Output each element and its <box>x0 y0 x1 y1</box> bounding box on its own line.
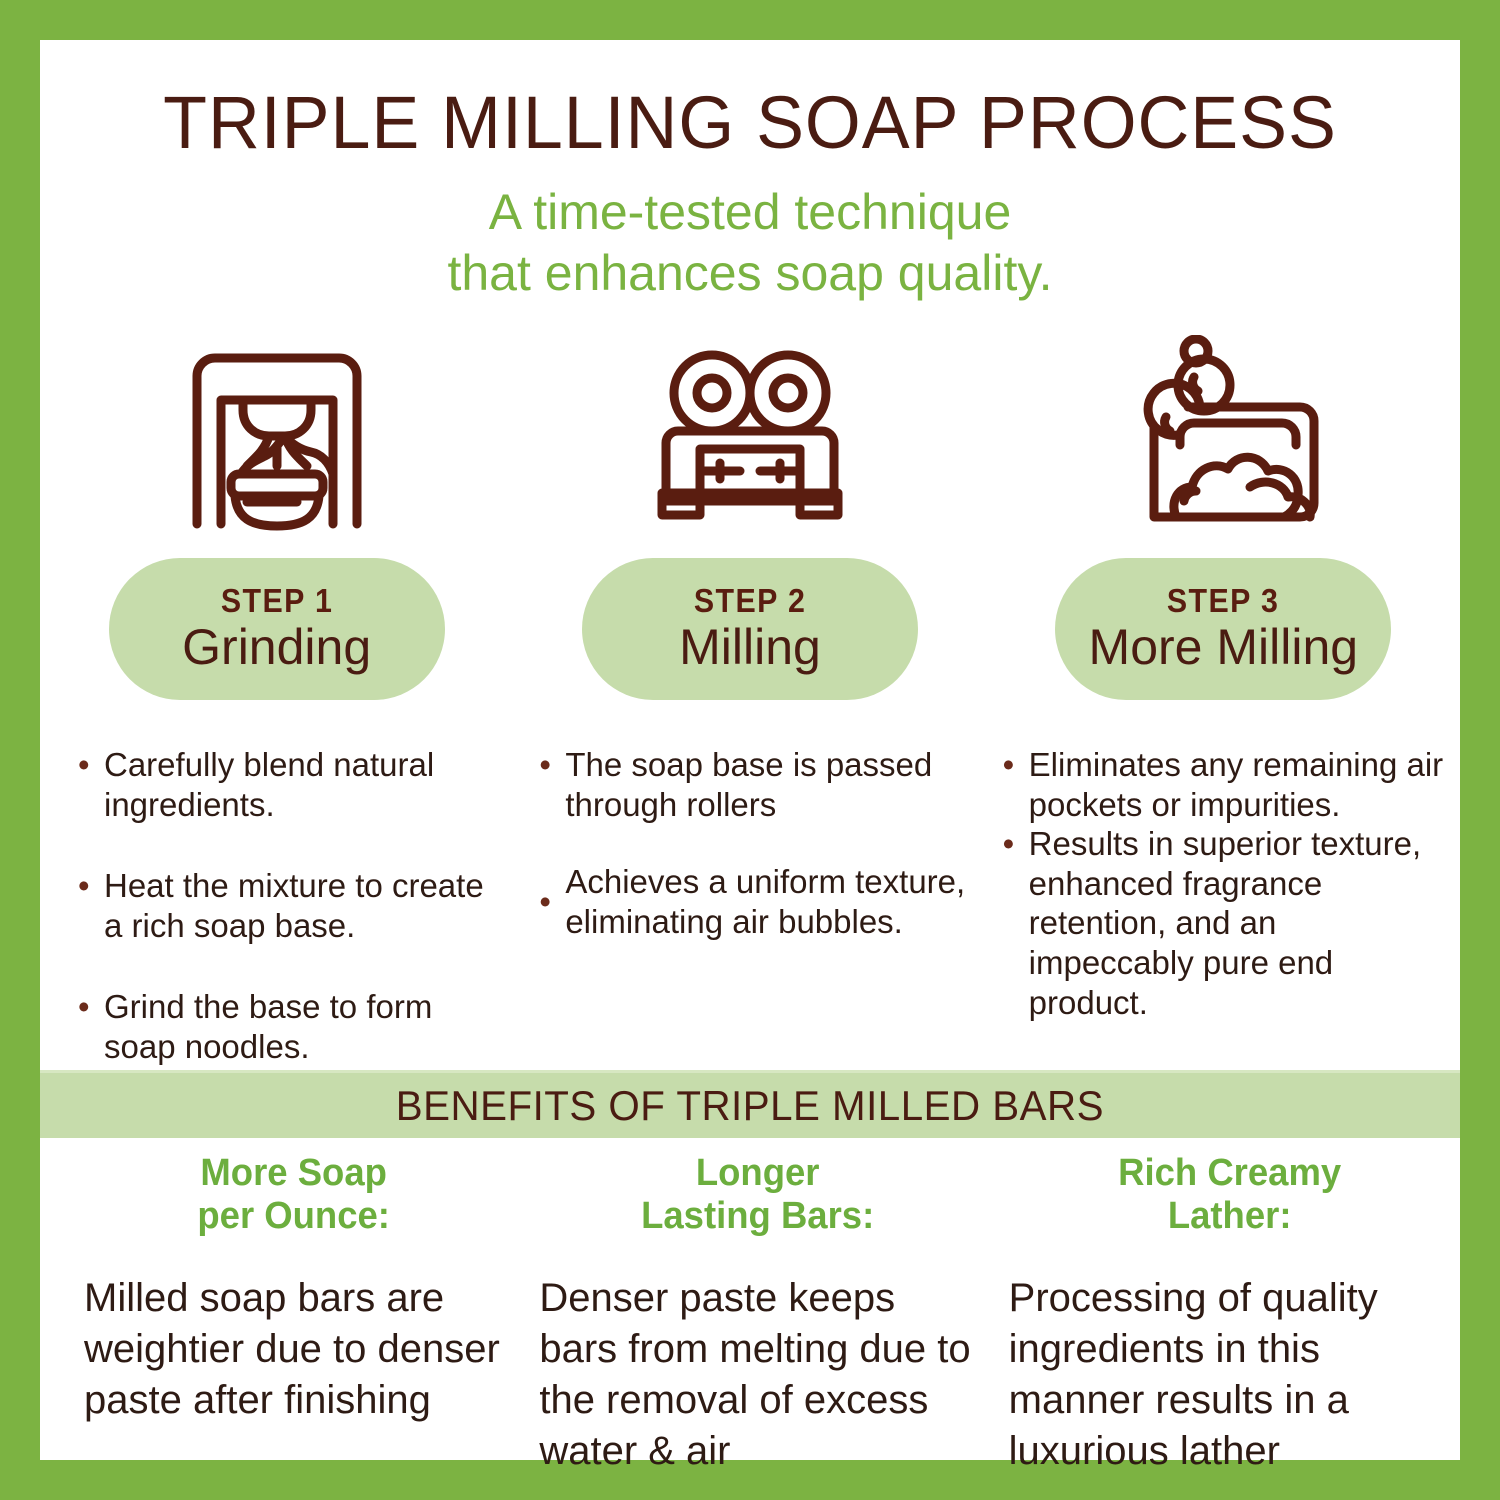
step-pill-1: STEP 1 Grinding <box>109 558 445 700</box>
step-label: STEP 1 <box>220 584 332 617</box>
list-item: • Carefully blend natural ingredients. <box>78 745 503 824</box>
bullet-text: The soap base is passed through rollers <box>565 745 976 824</box>
bullet-marker: • <box>539 745 565 824</box>
bullet-marker: • <box>78 745 104 824</box>
step-column-1: STEP 1 Grinding <box>40 330 513 700</box>
bullet-marker: • <box>539 882 565 922</box>
steps-row: STEP 1 Grinding <box>40 330 1460 700</box>
benefit-column-2: Longer Lasting Bars: Denser paste keeps … <box>513 1152 986 1477</box>
list-item: • Eliminates any remaining air pockets o… <box>1003 745 1446 824</box>
bullet-text: Achieves a uniform texture, eliminating … <box>565 862 976 941</box>
step-name: Milling <box>679 621 821 674</box>
bullet-marker: • <box>1003 824 1029 1022</box>
bullet-text: Carefully blend natural ingredients. <box>104 745 503 824</box>
list-item: • Grind the base to form soap noodles. <box>78 987 503 1066</box>
bullet-text: Grind the base to form soap noodles. <box>104 987 503 1066</box>
step-pill-2: STEP 2 Milling <box>582 558 918 700</box>
list-item: • The soap base is passed through roller… <box>539 745 976 824</box>
benefit-column-1: More Soap per Ounce: Milled soap bars ar… <box>40 1152 513 1477</box>
benefit-heading-line-1: Rich Creamy <box>1017 1152 1441 1195</box>
poster-canvas: TRIPLE MILLING SOAP PROCESS A time-teste… <box>40 40 1460 1460</box>
benefit-body: Milled soap bars are weightier due to de… <box>84 1273 503 1427</box>
bullet-column-2: • The soap base is passed through roller… <box>513 745 986 1109</box>
step-column-3: STEP 3 More Milling <box>987 330 1460 700</box>
step-name: More Milling <box>1089 621 1359 674</box>
benefit-heading-line-1: More Soap <box>92 1152 495 1195</box>
benefit-heading-line-2: Lasting Bars: <box>548 1195 968 1238</box>
benefit-heading: More Soap per Ounce: <box>92 1152 495 1239</box>
page-title: TRIPLE MILLING SOAP PROCESS <box>61 40 1438 160</box>
bullet-column-3: • Eliminates any remaining air pockets o… <box>987 745 1460 1109</box>
benefit-heading-line-1: Longer <box>548 1152 968 1195</box>
benefit-heading-line-2: Lather: <box>1017 1195 1441 1238</box>
bullet-marker: • <box>1003 745 1029 824</box>
bullet-marker: • <box>78 866 104 945</box>
step-name: Grinding <box>182 621 371 674</box>
bullet-text: Results in superior texture, enhanced fr… <box>1029 824 1446 1022</box>
list-item: • Achieves a uniform texture, eliminatin… <box>539 862 976 941</box>
soap-bar-bubbles-icon <box>1118 330 1328 540</box>
benefit-heading-line-2: per Ounce: <box>92 1195 495 1238</box>
roller-mill-icon <box>650 330 850 540</box>
page-subtitle: A time-tested technique that enhances so… <box>40 182 1460 304</box>
bullet-column-1: • Carefully blend natural ingredients. •… <box>40 745 513 1109</box>
benefit-heading: Longer Lasting Bars: <box>548 1152 968 1239</box>
benefit-body: Processing of quality ingredients in thi… <box>1009 1273 1450 1478</box>
step-label: STEP 3 <box>1167 584 1279 617</box>
bullet-text: Heat the mixture to create a rich soap b… <box>104 866 503 945</box>
benefits-row: More Soap per Ounce: Milled soap bars ar… <box>40 1152 1460 1477</box>
list-item: • Results in superior texture, enhanced … <box>1003 824 1446 1022</box>
bullet-marker: • <box>78 987 104 1066</box>
list-item: • Heat the mixture to create a rich soap… <box>78 866 503 945</box>
step-column-2: STEP 2 Milling <box>513 330 986 700</box>
subtitle-line-2: that enhances soap quality. <box>40 243 1460 304</box>
step-bullets-row: • Carefully blend natural ingredients. •… <box>40 745 1460 1109</box>
subtitle-line-1: A time-tested technique <box>40 182 1460 243</box>
step-pill-3: STEP 3 More Milling <box>1055 558 1391 700</box>
step-label: STEP 2 <box>694 584 806 617</box>
benefits-banner-title: BENEFITS OF TRIPLE MILLED BARS <box>396 1082 1104 1130</box>
benefits-banner: BENEFITS OF TRIPLE MILLED BARS <box>40 1070 1460 1138</box>
benefit-column-3: Rich Creamy Lather: Processing of qualit… <box>987 1152 1460 1477</box>
bullet-text: Eliminates any remaining air pockets or … <box>1029 745 1446 824</box>
benefit-body: Denser paste keeps bars from melting due… <box>539 1273 976 1478</box>
grinder-bowl-icon <box>177 330 377 540</box>
benefit-heading: Rich Creamy Lather: <box>1017 1152 1441 1239</box>
